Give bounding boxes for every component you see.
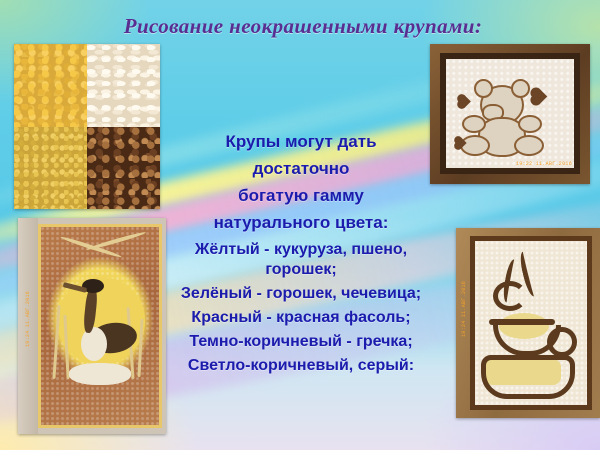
- lead-line-3: богатую гамму: [168, 182, 434, 209]
- grain-quadrant-corn: [14, 44, 87, 127]
- crane-leaf-2: [86, 231, 147, 252]
- coffee-timestamp: 19:24 11.АВГ.2016: [461, 281, 467, 337]
- coffee-artwork: 19:24 11.АВГ.2016: [470, 236, 592, 410]
- bear-arm-left: [462, 115, 486, 133]
- grain-quadrant-rice: [87, 44, 160, 127]
- color-item-green: Зелёный - горошек, чечевица;: [168, 284, 434, 304]
- coffee-saucer: [481, 355, 575, 399]
- photo-coffee-cup-picture: 19:24 11.АВГ.2016: [456, 228, 600, 418]
- coffee-cup-handle: [547, 327, 577, 357]
- lead-line-4: натурального цвета:: [168, 209, 434, 236]
- color-item-yellow: Жёлтый - кукуруза, пшено, горошек;: [168, 240, 434, 280]
- bear-ear-right: [511, 79, 530, 98]
- slide-title: Рисование неокрашенными крупами:: [118, 12, 488, 40]
- crane-reed-1: [52, 305, 60, 379]
- slide-body-text: Крупы могут дать достаточно богатую гамм…: [168, 128, 434, 376]
- bear-ear-left: [474, 79, 493, 98]
- bear-leg-left: [460, 135, 490, 156]
- heart-icon-left: [458, 95, 471, 108]
- coffee-steam-curl: [493, 281, 527, 311]
- bear-leg-right: [514, 135, 544, 156]
- grain-quadrant-millet: [14, 127, 87, 210]
- crane-timestamp: 19:24 11.АВГ.2016: [25, 291, 31, 347]
- crane-artwork: 19:24 11.АВГ.2016: [38, 224, 162, 428]
- heart-icon-right: [532, 89, 548, 105]
- crane-nest: [69, 363, 131, 385]
- lead-line-2: достаточно: [168, 155, 434, 182]
- color-item-light-brown: Светло-коричневый, серый:: [168, 356, 434, 376]
- photo-crane-picture: 19:24 11.АВГ.2016: [18, 218, 166, 434]
- teddy-timestamp: 19:22 11.АВГ.2016: [516, 161, 572, 167]
- lead-line-1: Крупы могут дать: [168, 128, 434, 155]
- photo-grains-collage: [14, 44, 160, 209]
- color-item-red: Красный - красная фасоль;: [168, 308, 434, 328]
- bear-arm-right: [518, 115, 542, 133]
- presentation-slide: Рисование неокрашенными крупами: Крупы м…: [0, 0, 600, 450]
- teddy-canvas: 19:22 11.АВГ.2016: [446, 59, 574, 168]
- photo-teddy-bear: 19:22 11.АВГ.2016: [430, 44, 590, 184]
- color-item-dark-brown: Темно-коричневый - гречка;: [168, 332, 434, 352]
- grain-quadrant-buckwheat: [87, 127, 160, 210]
